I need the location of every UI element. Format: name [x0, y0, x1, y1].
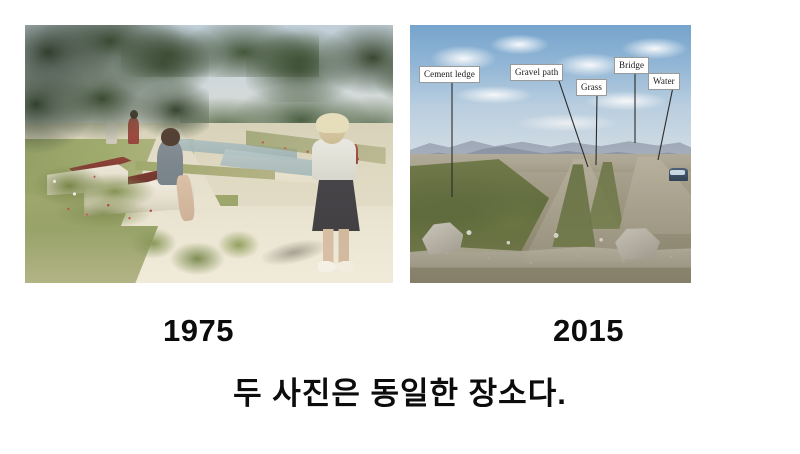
annotation-water: Water: [648, 73, 680, 90]
year-label-1975: 1975: [163, 313, 234, 349]
photo-1975-color-grade: [25, 25, 393, 283]
annotation-bridge: Bridge: [614, 57, 649, 74]
slide-caption: 두 사진은 동일한 장소다.: [0, 368, 800, 413]
photo-2015-canvas: Cement ledge Gravel path Grass Bridge Wa…: [410, 25, 691, 283]
annotation-cement-ledge: Cement ledge: [419, 66, 480, 83]
photo-2015[interactable]: Cement ledge Gravel path Grass Bridge Wa…: [410, 25, 691, 283]
slide-root: Cement ledge Gravel path Grass Bridge Wa…: [0, 0, 800, 454]
annotation-grass: Grass: [576, 79, 607, 96]
year-label-2015: 2015: [553, 313, 624, 349]
photo-1975-canvas: [25, 25, 393, 283]
annotation-gravel-path: Gravel path: [510, 64, 563, 81]
photo-1975[interactable]: [25, 25, 393, 283]
